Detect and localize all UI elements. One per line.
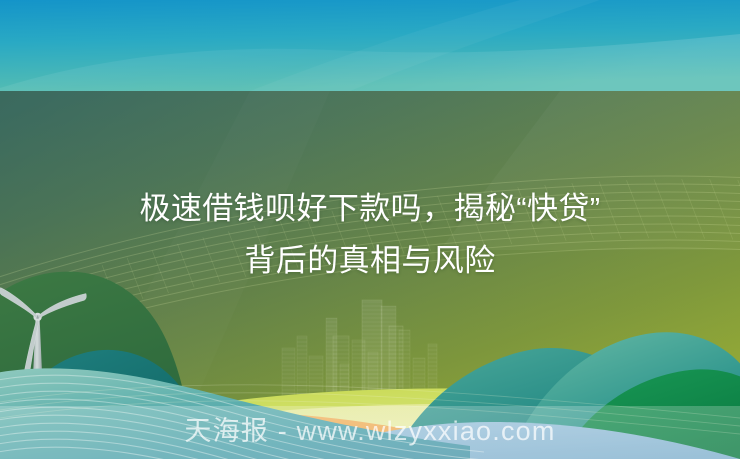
poster-artwork bbox=[0, 0, 740, 459]
brightness-band bbox=[0, 406, 740, 459]
poster-canvas: 极速借钱呗好下款吗，揭秘“快贷” 背后的真相与风险 天海报 - www.wlzy… bbox=[0, 0, 740, 459]
